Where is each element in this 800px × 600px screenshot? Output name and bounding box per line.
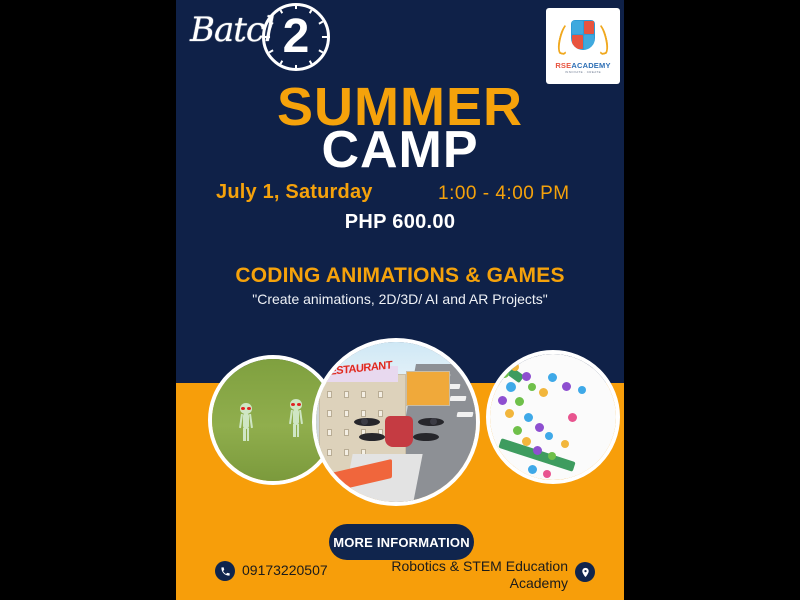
logo-name: RSEACADEMY	[555, 61, 610, 70]
photo-drone-city: RESTAURANT	[312, 338, 480, 506]
shield-icon	[571, 20, 595, 50]
title-camp: CAMP	[176, 120, 624, 180]
summer-camp-poster: RSEACADEMY INNOVATE . CREATE Batch 2 SUM…	[176, 0, 624, 600]
city-scene: RESTAURANT	[316, 342, 476, 502]
phone-icon	[215, 561, 235, 581]
rse-academy-logo: RSEACADEMY INNOVATE . CREATE	[546, 8, 620, 84]
photo-balls	[486, 350, 620, 484]
more-information-button[interactable]: MORE INFORMATION	[329, 524, 474, 560]
event-price: PHP 600.00	[176, 211, 624, 234]
event-date: July 1, Saturday	[216, 181, 373, 204]
shield-emblem-icon	[560, 19, 606, 59]
ramp	[490, 354, 525, 383]
location-pin-icon	[575, 562, 595, 582]
organization-name: Robotics & STEM Education Academy	[388, 558, 568, 592]
course-tagline: "Create animations, 2D/3D/ AI and AR Pro…	[176, 291, 624, 307]
ball-scene	[490, 354, 616, 480]
drone	[358, 409, 441, 451]
phone-number[interactable]: 09173220507	[242, 562, 328, 578]
logo-name-part2: ACADEMY	[571, 61, 610, 70]
event-time: 1:00 - 4:00 PM	[438, 183, 570, 205]
batch-number: 2	[270, 9, 322, 65]
course-title: CODING ANIMATIONS & GAMES	[176, 264, 624, 288]
alien-figure	[290, 399, 302, 437]
logo-name-part1: RSE	[555, 61, 571, 70]
logo-subtitle: INNOVATE . CREATE	[565, 70, 601, 74]
alien-figure	[240, 403, 252, 441]
